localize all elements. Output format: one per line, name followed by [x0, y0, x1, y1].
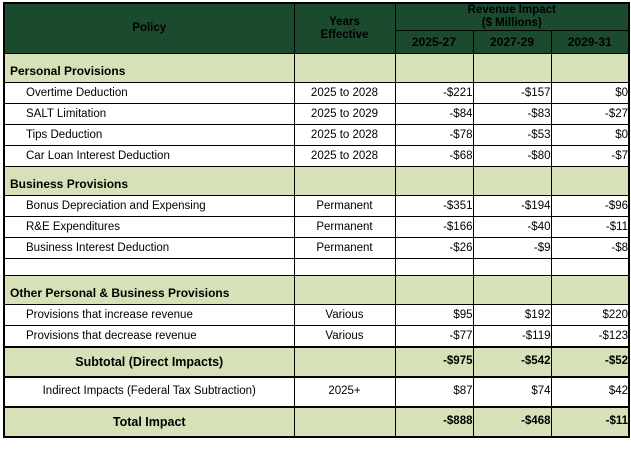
section-p3-cell [551, 54, 629, 83]
value-2025-27: -$221 [395, 83, 473, 104]
column-header-policy: Policy [4, 3, 294, 54]
section-p3-cell [551, 276, 629, 305]
years-value: 2025 to 2028 [294, 83, 395, 104]
column-header-period-2029-31: 2029-31 [551, 31, 629, 54]
column-header-revenue-impact: Revenue Impact ($ Millions) [395, 3, 629, 31]
policy-label: Tips Deduction [4, 125, 294, 146]
section-years-cell [294, 54, 395, 83]
column-header-years-effective: Years Effective [294, 3, 395, 54]
header-row-primary: Policy Years Effective Revenue Impact ($… [4, 3, 629, 31]
revenue-impact-line1: Revenue Impact [396, 4, 629, 17]
value-2027-29: -$40 [473, 217, 551, 238]
years-value: Various [294, 305, 395, 326]
total-2025-27: -$888 [395, 407, 473, 437]
value-2025-27: -$78 [395, 125, 473, 146]
value-2025-27: -$77 [395, 326, 473, 347]
policy-label: Bonus Depreciation and Expensing [4, 196, 294, 217]
section-header-row: Business Provisions [4, 167, 629, 196]
table-row: Tips Deduction 2025 to 2028 -$78 -$53 $0 [4, 125, 629, 146]
table-body: Personal Provisions Overtime Deduction 2… [4, 54, 629, 437]
section-p1-cell [395, 54, 473, 83]
column-header-period-2027-29: 2027-29 [473, 31, 551, 54]
fiscal-impact-table: Policy Years Effective Revenue Impact ($… [3, 2, 630, 438]
subtotal-2025-27: -$975 [395, 347, 473, 377]
indirect-years: 2025+ [294, 377, 395, 407]
section-p3-cell [551, 167, 629, 196]
policy-label: SALT Limitation [4, 104, 294, 125]
value-2025-27: -$351 [395, 196, 473, 217]
total-2029-31: -$11 [551, 407, 629, 437]
years-value: Permanent [294, 196, 395, 217]
value-2027-29: -$194 [473, 196, 551, 217]
table-row: R&E Expenditures Permanent -$166 -$40 -$… [4, 217, 629, 238]
table-row: Provisions that decrease revenue Various… [4, 326, 629, 347]
table-header: Policy Years Effective Revenue Impact ($… [4, 3, 629, 54]
value-2029-31: -$27 [551, 104, 629, 125]
years-effective-line2: Effective [295, 29, 395, 42]
years-value: Permanent [294, 217, 395, 238]
policy-label: Overtime Deduction [4, 83, 294, 104]
value-2025-27: -$84 [395, 104, 473, 125]
value-2027-29: -$119 [473, 326, 551, 347]
value-2029-31: $0 [551, 83, 629, 104]
table-row: Provisions that increase revenue Various… [4, 305, 629, 326]
table-row: Business Interest Deduction Permanent -$… [4, 238, 629, 259]
value-2029-31: -$8 [551, 238, 629, 259]
value-2029-31: -$11 [551, 217, 629, 238]
indirect-label: Indirect Impacts (Federal Tax Subtractio… [4, 377, 294, 407]
indirect-2027-29: $74 [473, 377, 551, 407]
value-2027-29: -$157 [473, 83, 551, 104]
value-2029-31: $220 [551, 305, 629, 326]
column-header-period-2025-27: 2025-27 [395, 31, 473, 54]
spacer-row [4, 259, 629, 276]
section-title: Business Provisions [4, 167, 294, 196]
table-row: SALT Limitation 2025 to 2029 -$84 -$83 -… [4, 104, 629, 125]
value-2025-27: $95 [395, 305, 473, 326]
value-2029-31: -$7 [551, 146, 629, 167]
subtotal-2027-29: -$542 [473, 347, 551, 377]
table-row: Car Loan Interest Deduction 2025 to 2028… [4, 146, 629, 167]
value-2027-29: -$80 [473, 146, 551, 167]
policy-label: Provisions that decrease revenue [4, 326, 294, 347]
value-2027-29: $192 [473, 305, 551, 326]
total-impact-row: Total Impact -$888 -$468 -$11 [4, 407, 629, 437]
subtotal-2029-31: -$52 [551, 347, 629, 377]
spacer-cell [294, 259, 395, 276]
subtotal-row: Subtotal (Direct Impacts) -$975 -$542 -$… [4, 347, 629, 377]
fiscal-impact-table-container: Policy Years Effective Revenue Impact ($… [3, 2, 628, 438]
policy-label: R&E Expenditures [4, 217, 294, 238]
section-title: Personal Provisions [4, 54, 294, 83]
table-row: Overtime Deduction 2025 to 2028 -$221 -$… [4, 83, 629, 104]
subtotal-years [294, 347, 395, 377]
spacer-cell [4, 259, 294, 276]
value-2029-31: -$96 [551, 196, 629, 217]
value-2027-29: -$53 [473, 125, 551, 146]
total-years [294, 407, 395, 437]
value-2027-29: -$83 [473, 104, 551, 125]
section-header-row: Personal Provisions [4, 54, 629, 83]
spacer-cell [473, 259, 551, 276]
years-effective-line1: Years [295, 16, 395, 29]
value-2029-31: -$123 [551, 326, 629, 347]
section-p2-cell [473, 167, 551, 196]
value-2025-27: -$166 [395, 217, 473, 238]
table-row: Bonus Depreciation and Expensing Permane… [4, 196, 629, 217]
total-label: Total Impact [4, 407, 294, 437]
section-p1-cell [395, 276, 473, 305]
indirect-impacts-row: Indirect Impacts (Federal Tax Subtractio… [4, 377, 629, 407]
years-value: 2025 to 2029 [294, 104, 395, 125]
section-years-cell [294, 167, 395, 196]
revenue-impact-line2: ($ Millions) [396, 17, 629, 30]
indirect-2029-31: $42 [551, 377, 629, 407]
value-2025-27: -$26 [395, 238, 473, 259]
years-value: Permanent [294, 238, 395, 259]
section-p2-cell [473, 54, 551, 83]
years-value: 2025 to 2028 [294, 146, 395, 167]
years-value: 2025 to 2028 [294, 125, 395, 146]
policy-label: Car Loan Interest Deduction [4, 146, 294, 167]
spacer-cell [551, 259, 629, 276]
policy-label: Business Interest Deduction [4, 238, 294, 259]
years-value: Various [294, 326, 395, 347]
section-header-row: Other Personal & Business Provisions [4, 276, 629, 305]
policy-label: Provisions that increase revenue [4, 305, 294, 326]
value-2029-31: $0 [551, 125, 629, 146]
indirect-2025-27: $87 [395, 377, 473, 407]
total-2027-29: -$468 [473, 407, 551, 437]
section-p1-cell [395, 167, 473, 196]
value-2027-29: -$9 [473, 238, 551, 259]
subtotal-label: Subtotal (Direct Impacts) [4, 347, 294, 377]
spacer-cell [395, 259, 473, 276]
section-years-cell [294, 276, 395, 305]
value-2025-27: -$68 [395, 146, 473, 167]
section-p2-cell [473, 276, 551, 305]
section-title: Other Personal & Business Provisions [4, 276, 294, 305]
